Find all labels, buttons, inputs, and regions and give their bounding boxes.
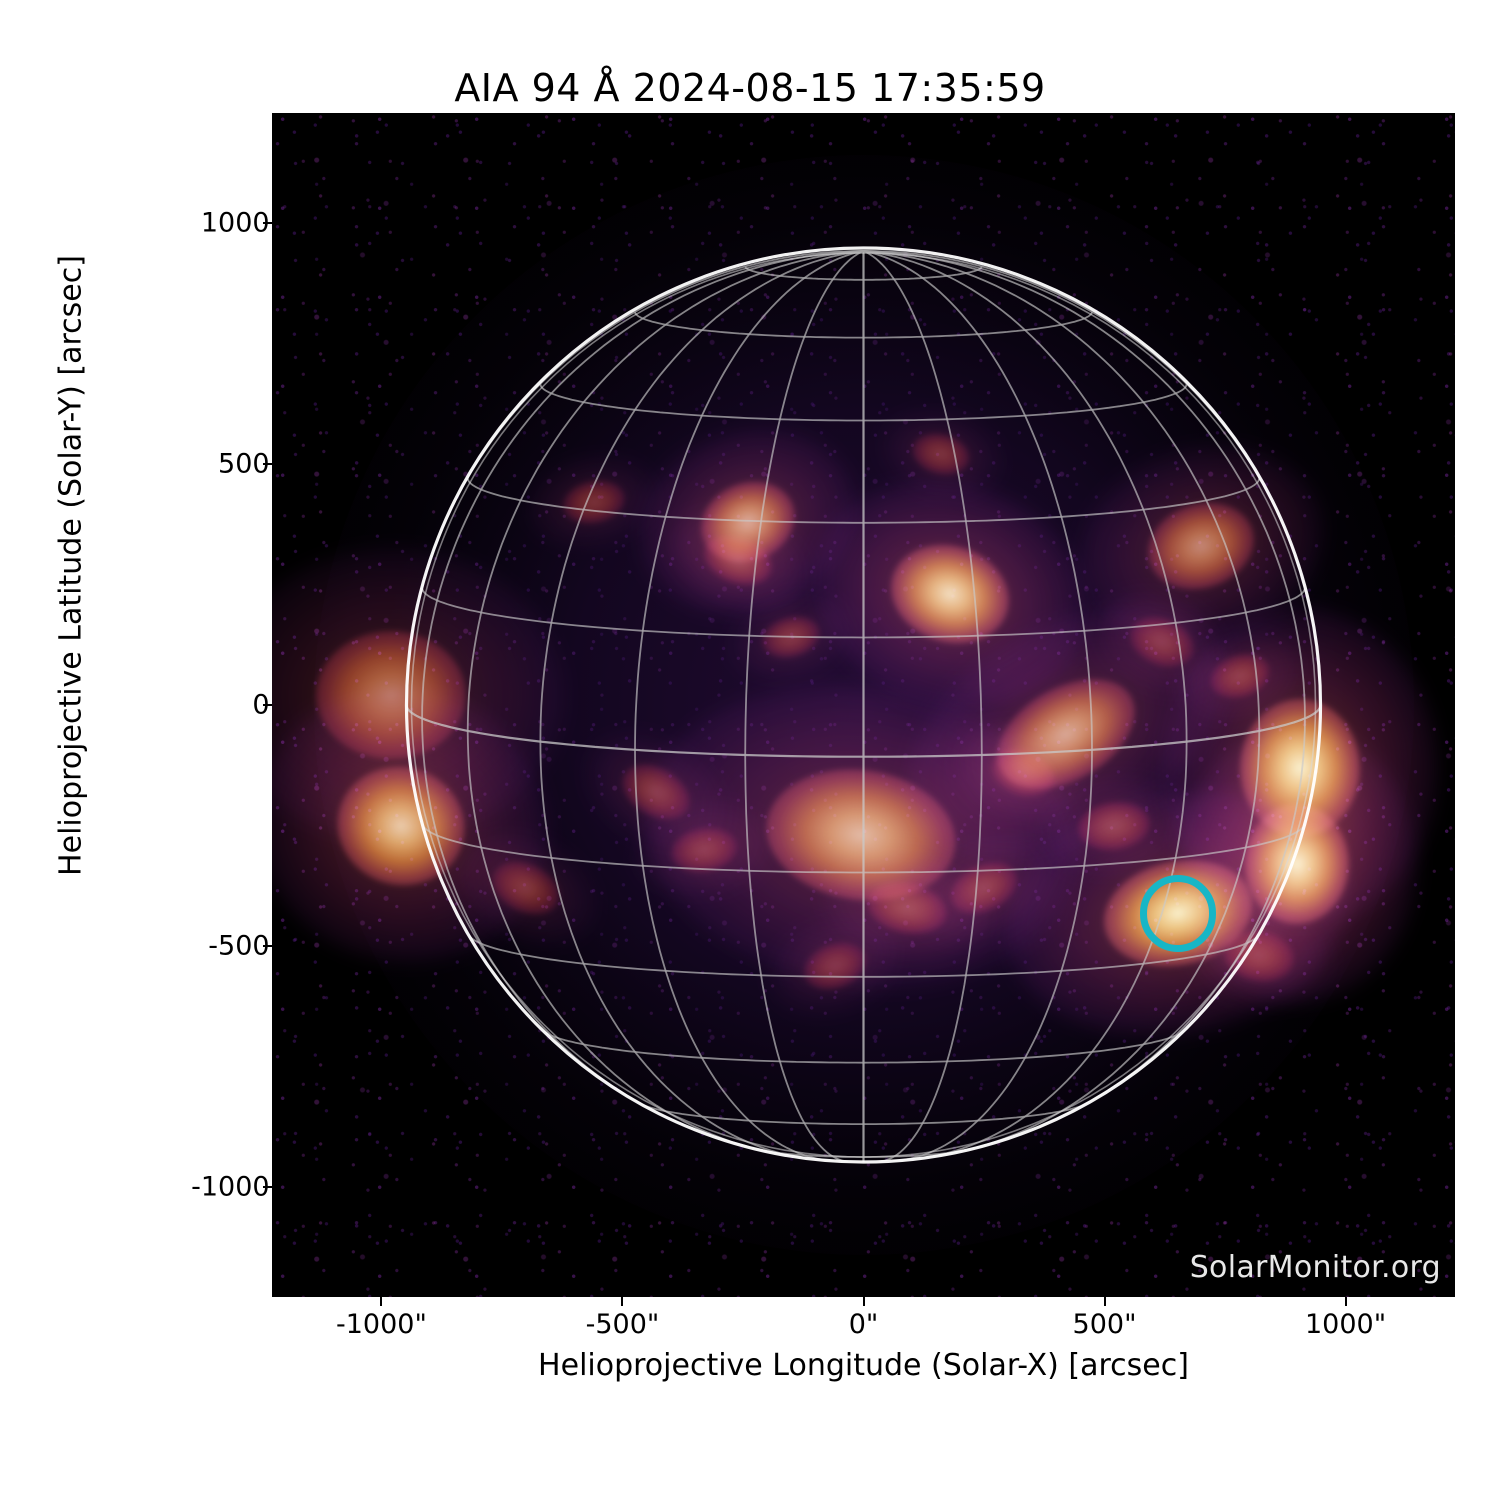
x-tick-label: 500" <box>1073 1309 1137 1340</box>
grid-line <box>864 251 1260 1153</box>
x-tick-label: 0" <box>849 1309 879 1340</box>
x-tick-label: -1000" <box>336 1309 427 1340</box>
x-tick-mark <box>621 1297 623 1306</box>
grid-line <box>864 251 1305 1125</box>
y-tick-mark <box>263 1186 272 1188</box>
grid-line <box>422 251 863 1125</box>
y-tick-mark <box>263 222 272 224</box>
x-tick-mark <box>863 1297 865 1306</box>
y-tick-mark <box>263 704 272 706</box>
x-axis-label: Helioprojective Longitude (Solar-X) [arc… <box>272 1348 1455 1383</box>
solar-disk-plot[interactable]: SolarMonitor.org <box>272 113 1455 1297</box>
grid-line <box>864 251 1187 1158</box>
x-tick-mark <box>380 1297 382 1306</box>
watermark: SolarMonitor.org <box>1190 1250 1441 1285</box>
grid-line <box>864 251 982 1162</box>
grid-line <box>745 251 863 1162</box>
active-region-marker[interactable] <box>1140 875 1216 951</box>
grid-line <box>864 251 1093 1161</box>
heliographic-grid <box>272 113 1455 1297</box>
y-tick-mark <box>263 463 272 465</box>
grid-line <box>468 251 864 1153</box>
page-title: AIA 94 Å 2024-08-15 17:35:59 <box>0 66 1500 110</box>
grid-line <box>635 251 864 1161</box>
y-tick-mark <box>263 945 272 947</box>
x-tick-label: 1000" <box>1305 1309 1386 1340</box>
x-tick-label: -500" <box>586 1309 660 1340</box>
y-axis-label: Helioprojective Latitude (Solar-Y) [arcs… <box>54 146 89 986</box>
x-tick-mark <box>1104 1297 1106 1306</box>
x-tick-mark <box>1345 1297 1347 1306</box>
solar-image-figure: AIA 94 Å 2024-08-15 17:35:59 Helioprojec… <box>0 0 1500 1500</box>
grid-line <box>540 251 863 1158</box>
